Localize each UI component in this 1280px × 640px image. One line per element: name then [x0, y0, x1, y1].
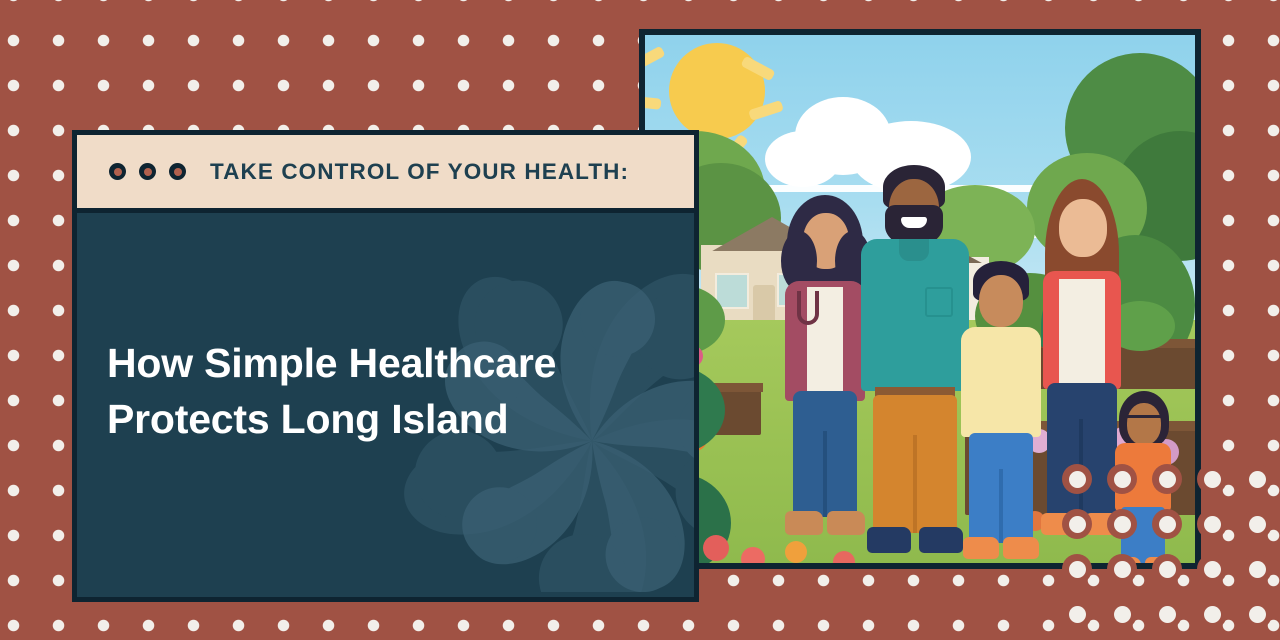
person-young-girl [1113, 391, 1175, 563]
shoe [919, 527, 963, 553]
head [979, 275, 1023, 327]
mouth [901, 217, 927, 228]
leg-gap [913, 435, 917, 533]
leg-gap [823, 431, 827, 517]
page-title: How Simple Healthcare Protects Long Isla… [107, 335, 667, 447]
shirt [961, 327, 1041, 437]
tank-front [1059, 279, 1105, 385]
cloud-icon [765, 131, 841, 187]
family-garden-illustration [645, 35, 1195, 563]
glasses [1127, 415, 1161, 424]
card-header-bar: TAKE CONTROL OF YOUR HEALTH: [77, 135, 694, 213]
window-dot-icon [169, 163, 186, 180]
collar [899, 239, 929, 261]
shoe [1117, 557, 1141, 563]
leg-gap [1079, 419, 1083, 519]
flower-icon [785, 541, 807, 563]
person-father [859, 165, 971, 563]
flower-icon [703, 535, 729, 561]
stethoscope [797, 291, 819, 325]
shoe [963, 537, 999, 559]
shoe [1145, 557, 1169, 563]
pocket [925, 287, 953, 317]
head [1059, 199, 1107, 257]
leg-gap [999, 469, 1003, 543]
head [1127, 403, 1161, 445]
shoe [785, 511, 823, 535]
shoe [867, 527, 911, 553]
shirt [1115, 443, 1171, 511]
window-dot-icon [139, 163, 156, 180]
illustration-panel [639, 29, 1201, 569]
eyebrow-label: TAKE CONTROL OF YOUR HEALTH: [210, 159, 629, 185]
headline-card: TAKE CONTROL OF YOUR HEALTH: [72, 130, 699, 602]
banner-stage: TAKE CONTROL OF YOUR HEALTH: [0, 0, 1280, 640]
window-dot-icon [109, 163, 126, 180]
jeans [1121, 507, 1165, 563]
sandal [1041, 513, 1079, 535]
card-body: How Simple Healthcare Protects Long Isla… [77, 213, 694, 592]
